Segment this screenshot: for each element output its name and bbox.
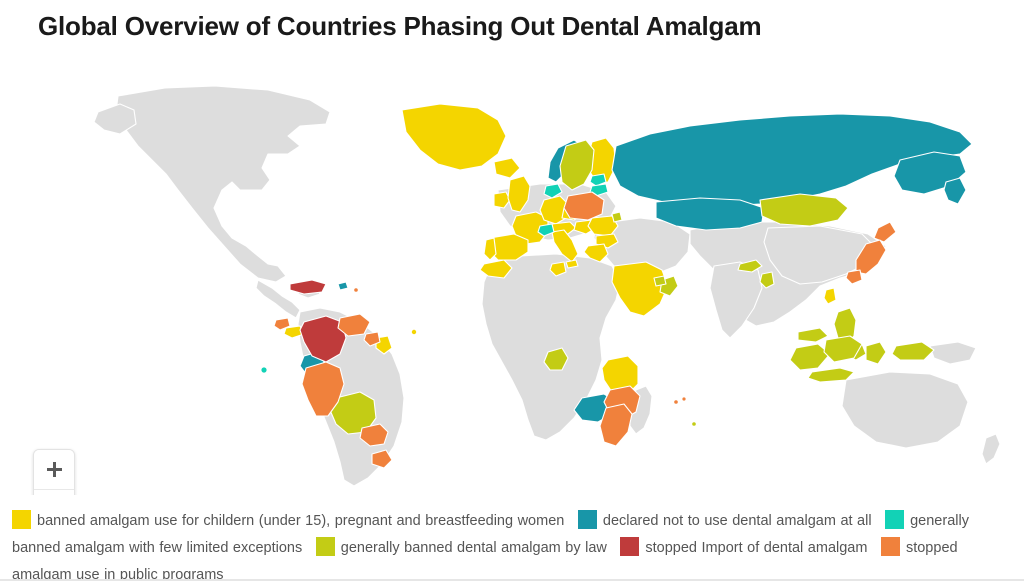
page-title: Global Overview of Countries Phasing Out… <box>38 11 761 42</box>
zoom-out-button[interactable] <box>34 490 74 495</box>
world-map-svg[interactable] <box>0 50 1024 495</box>
legend-swatch-public-programs <box>881 537 900 556</box>
legend-items: banned amalgam use for childern (under 1… <box>12 508 1018 581</box>
country-uae[interactable] <box>654 276 666 286</box>
map-zoom-control[interactable] <box>33 449 75 495</box>
legend-swatch-limited-exceptions <box>885 510 904 529</box>
legend-item-children[interactable]: banned amalgam use for childern (under 1… <box>12 513 569 529</box>
marker-small-caribbean <box>354 288 358 292</box>
world-map[interactable] <box>0 50 1024 495</box>
country-mongolia[interactable] <box>760 194 848 226</box>
legend-swatch-banned-by-law <box>316 537 335 556</box>
legend-swatch-stopped-import <box>620 537 639 556</box>
legend-item-banned-by-law[interactable]: generally banned dental amalgam by law <box>316 540 612 556</box>
title-bar: Global Overview of Countries Phasing Out… <box>0 0 1024 52</box>
plus-icon <box>46 461 63 478</box>
marker-small-indian-2 <box>682 397 685 400</box>
country-moldova[interactable] <box>612 212 622 222</box>
marker-small-africa-west <box>692 422 696 426</box>
legend-item-stopped-import[interactable]: stopped Import of dental amalgam <box>620 540 872 556</box>
map-legend: banned amalgam use for childern (under 1… <box>0 500 1024 581</box>
country-sicily[interactable] <box>566 260 578 268</box>
marker-small-pacific <box>261 367 266 372</box>
country-poland[interactable] <box>564 192 604 220</box>
zoom-in-button[interactable] <box>34 450 74 490</box>
country-caribbean-teal[interactable] <box>338 282 348 290</box>
marker-small-indian-1 <box>674 400 678 404</box>
legend-label-children: banned amalgam use for childern (under 1… <box>37 513 564 529</box>
marker-small-atlantic <box>412 330 416 334</box>
map-infographic: Global Overview of Countries Phasing Out… <box>0 0 1024 581</box>
legend-item-declared-none[interactable]: declared not to use dental amalgam at al… <box>578 513 876 529</box>
legend-label-stopped-import: stopped Import of dental amalgam <box>645 540 867 556</box>
legend-label-declared-none: declared not to use dental amalgam at al… <box>603 513 872 529</box>
legend-swatch-children <box>12 510 31 529</box>
legend-swatch-declared-none <box>578 510 597 529</box>
legend-label-banned-by-law: generally banned dental amalgam by law <box>341 540 607 556</box>
